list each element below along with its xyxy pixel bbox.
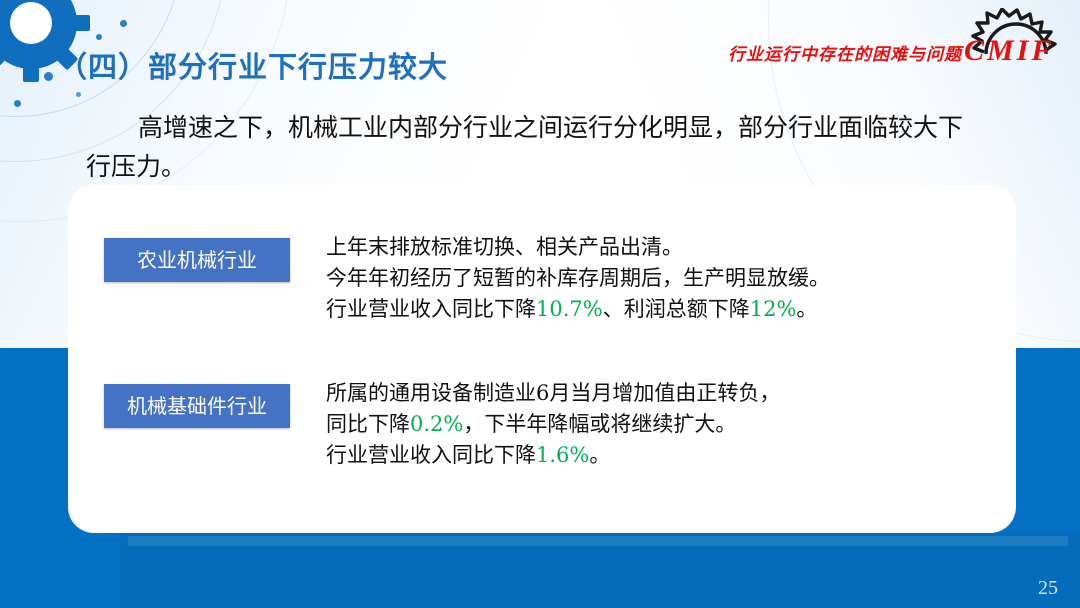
detail-text: 今年年初经历了短暂的补库存周期后，生产明显放缓。 (326, 266, 830, 290)
detail-line: 上年末排放标准切换、相关产品出清。 (326, 232, 830, 263)
content-block: 农业机械行业 上年末排放标准切换、相关产品出清。今年年初经历了短暂的补库存周期后… (104, 232, 830, 325)
panel-highlight (128, 536, 1068, 546)
detail-line: 行业营业收入同比下降10.7%、利润总额下降12%。 (326, 294, 830, 325)
detail-text: 。 (589, 443, 610, 467)
section-header-label: 行业运行中存在的困难与问题 (728, 40, 962, 65)
highlighted-figure: 12% (750, 297, 797, 321)
detail-line: 行业营业收入同比下降1.6%。 (326, 440, 780, 471)
highlighted-figure: 0.2% (410, 412, 463, 436)
detail-text: ，下半年降幅或将继续扩大。 (463, 412, 736, 436)
decorative-dot (120, 20, 127, 27)
page-title: （四）部分行业下行压力较大 (58, 44, 448, 86)
industry-detail-lines: 上年末排放标准切换、相关产品出清。今年年初经历了短暂的补库存周期后，生产明显放缓… (326, 232, 830, 325)
industry-tag-badge[interactable]: 机械基础件行业 (104, 384, 290, 428)
detail-text: 行业营业收入同比下降 (326, 443, 536, 467)
detail-text: 行业营业收入同比下降 (326, 297, 536, 321)
cmif-logo: CMIF (962, 8, 1070, 70)
detail-line: 所属的通用设备制造业6月当月增加值由正转负， (326, 378, 780, 409)
industry-detail-lines: 所属的通用设备制造业6月当月增加值由正转负，同比下降0.2%，下半年降幅或将继续… (326, 378, 780, 471)
detail-text: 同比下降 (326, 412, 410, 436)
slide-canvas: 行业运行中存在的困难与问题 CMIF （四）部分行业下行压力较大 高增速之下，机… (0, 0, 1080, 608)
detail-text: 、利润总额下降 (603, 297, 750, 321)
detail-text: 所属的通用设备制造业6月当月增加值由正转负， (326, 381, 780, 405)
logo-text: CMIF (964, 34, 1054, 68)
detail-line: 今年年初经历了短暂的补库存周期后，生产明显放缓。 (326, 263, 830, 294)
decorative-dot (76, 92, 81, 97)
page-number: 25 (1038, 577, 1058, 600)
detail-text: 。 (796, 297, 817, 321)
highlighted-figure: 10.7% (536, 297, 603, 321)
decorative-dot (96, 34, 102, 40)
detail-line: 同比下降0.2%，下半年降幅或将继续扩大。 (326, 409, 780, 440)
detail-text: 上年末排放标准切换、相关产品出清。 (326, 235, 683, 259)
highlighted-figure: 1.6% (536, 443, 589, 467)
industry-tag-badge[interactable]: 农业机械行业 (104, 238, 290, 282)
decorative-dot (64, 12, 72, 20)
content-block: 机械基础件行业 所属的通用设备制造业6月当月增加值由正转负，同比下降0.2%，下… (104, 378, 780, 471)
decorative-dot (44, 72, 53, 81)
intro-paragraph: 高增速之下，机械工业内部分行业之间运行分化明显，部分行业面临较大下行压力。 (86, 108, 986, 186)
decorative-dot (14, 100, 21, 107)
